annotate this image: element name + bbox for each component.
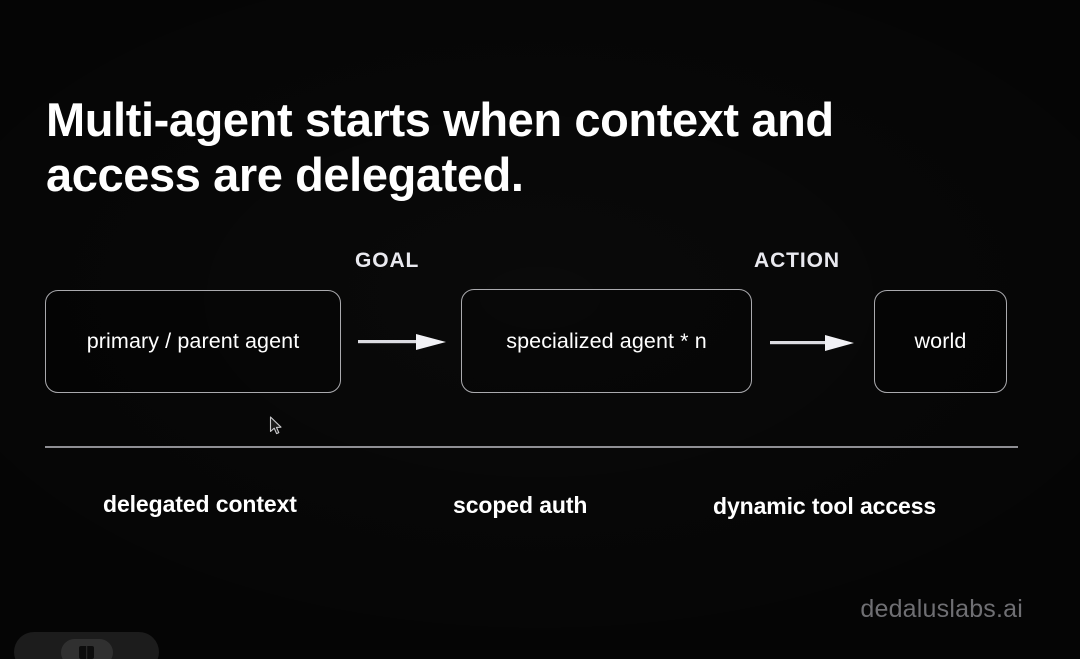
caption-goal: GOAL — [355, 249, 419, 273]
slide-title-line-2: access are delegated. — [46, 147, 946, 202]
slide-title: Multi-agent starts when context and acce… — [46, 92, 946, 202]
screen-share-control-bar[interactable] — [14, 632, 159, 659]
watermark-dedaluslabs: dedaluslabs.ai — [860, 595, 1023, 624]
camera-toggle-icon — [79, 646, 94, 659]
flow-box-label: specialized agent * n — [506, 329, 707, 354]
arrow-right-icon-action — [770, 330, 854, 356]
camera-toggle-button[interactable] — [61, 639, 113, 659]
footer-label-dynamic-tool-access: dynamic tool access — [713, 493, 936, 520]
horizontal-divider — [45, 446, 1018, 448]
caption-action: ACTION — [754, 249, 840, 273]
footer-label-scoped-auth: scoped auth — [453, 492, 587, 519]
presentation-slide: Multi-agent starts when context and acce… — [0, 0, 1080, 659]
flow-box-specialized-agent: specialized agent * n — [461, 289, 752, 393]
flow-box-label: primary / parent agent — [87, 329, 300, 354]
footer-label-delegated-context: delegated context — [103, 491, 297, 518]
flow-box-label: world — [915, 329, 967, 354]
flow-box-world: world — [874, 290, 1007, 393]
arrow-right-icon-goal — [358, 329, 446, 355]
slide-title-line-1: Multi-agent starts when context and — [46, 92, 946, 147]
flow-box-primary-parent-agent: primary / parent agent — [45, 290, 341, 393]
mouse-pointer-icon — [269, 416, 283, 436]
